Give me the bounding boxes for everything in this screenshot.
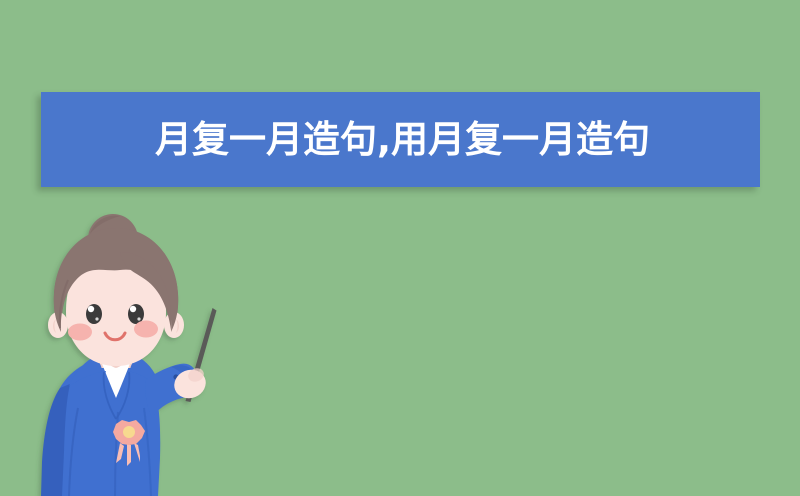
teacher-illustration <box>20 212 250 496</box>
page-title: 月复一月造句,用月复一月造句 <box>155 121 650 158</box>
page-canvas: 月复一月造句,用月复一月造句 <box>0 0 800 496</box>
eye-right <box>128 304 144 324</box>
blush-left <box>68 324 92 341</box>
teacher-illustration-svg <box>20 212 250 496</box>
eye-left <box>86 304 102 324</box>
title-banner: 月复一月造句,用月复一月造句 <box>41 92 760 187</box>
blush-right <box>134 321 158 338</box>
teacher-head-group <box>48 214 184 366</box>
brooch-center <box>123 426 135 438</box>
